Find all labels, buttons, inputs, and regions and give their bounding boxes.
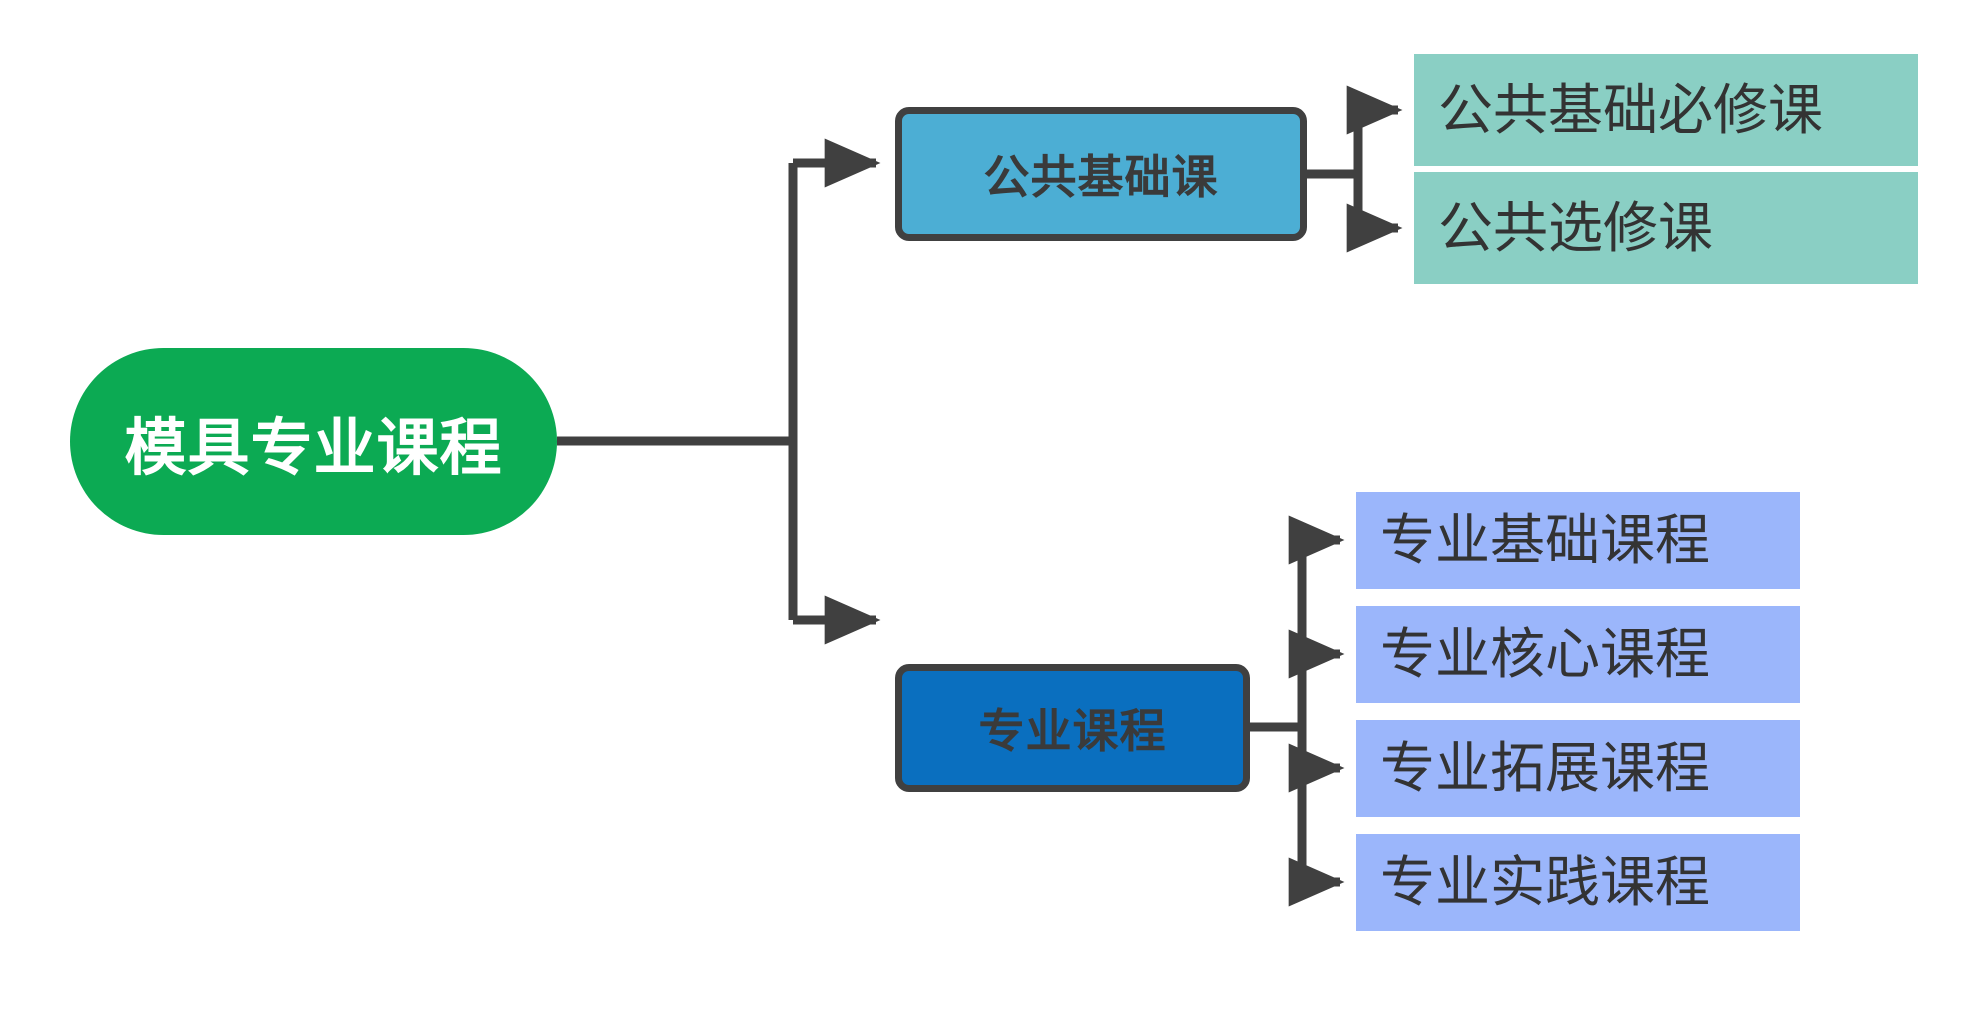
leaf-node-major-practice[interactable]: 专业实践课程 <box>1356 834 1800 931</box>
leaf-node-public-elective[interactable]: 公共选修课 <box>1414 172 1918 284</box>
leaf-node-major-practice-label: 专业实践课程 <box>1356 855 1710 910</box>
leaf-node-major-extension-label: 专业拓展课程 <box>1356 741 1710 796</box>
leaf-node-major-extension[interactable]: 专业拓展课程 <box>1356 720 1800 817</box>
root-node-label: 模具专业课程 <box>124 397 502 487</box>
leaf-node-public-required-label: 公共基础必修课 <box>1414 83 1823 138</box>
leaf-node-public-elective-label: 公共选修课 <box>1414 201 1713 256</box>
leaf-node-public-required[interactable]: 公共基础必修课 <box>1414 54 1918 166</box>
branch-node-major-courses-label: 专业课程 <box>979 695 1167 761</box>
leaf-node-major-foundation[interactable]: 专业基础课程 <box>1356 492 1800 589</box>
leaf-node-major-core-label: 专业核心课程 <box>1356 627 1710 682</box>
branch-node-public-basic[interactable]: 公共基础课 <box>895 107 1307 241</box>
branch-node-public-basic-label: 公共基础课 <box>984 141 1219 207</box>
branch-node-major-courses[interactable]: 专业课程 <box>895 664 1250 792</box>
leaf-node-major-core[interactable]: 专业核心课程 <box>1356 606 1800 703</box>
root-node-mold-major-courses[interactable]: 模具专业课程 <box>70 348 557 535</box>
mindmap-canvas: 模具专业课程 公共基础课 专业课程 公共基础必修课 公共选修课 专业基础课程 专… <box>0 0 1984 1031</box>
leaf-node-major-foundation-label: 专业基础课程 <box>1356 513 1710 568</box>
